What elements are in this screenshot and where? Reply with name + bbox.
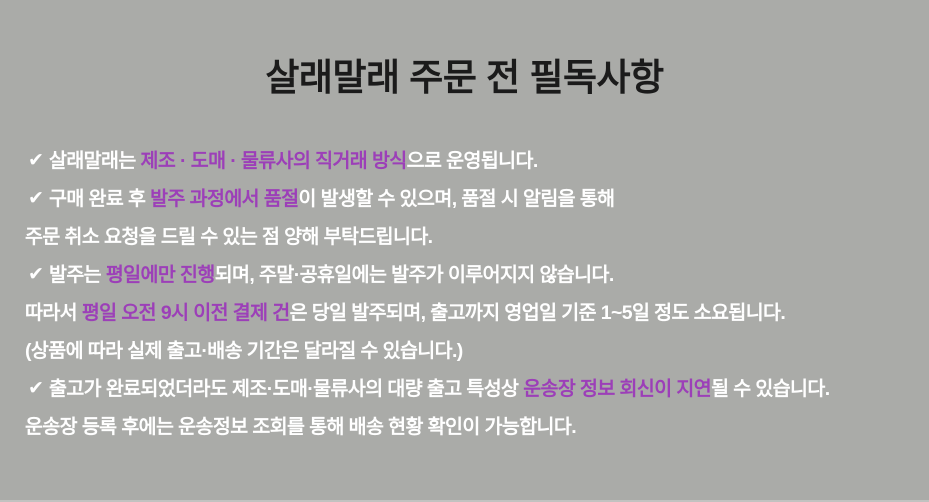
- notice-list: ✔살래말래는 제조 · 도매 · 물류사의 직거래 방식으로 운영됩니다.✔구매…: [0, 142, 929, 446]
- notice-text: 으로 운영됩니다.: [407, 150, 538, 172]
- check-icon: ✔: [28, 180, 49, 218]
- check-icon: ✔: [28, 370, 49, 408]
- notice-text: 될 수 있습니다.: [711, 378, 830, 400]
- notice-text: 이 발생할 수 있으며, 품절 시 알림을 통해: [299, 188, 615, 210]
- order-notice-banner: 살래말래 주문 전 필독사항 ✔살래말래는 제조 · 도매 · 물류사의 직거래…: [0, 0, 929, 502]
- check-icon: ✔: [28, 142, 49, 180]
- highlighted-text: 제조 · 도매 · 물류사의 직거래 방식: [141, 150, 407, 172]
- highlighted-text: 발주 과정에서 품절: [150, 188, 298, 210]
- notice-line: 운송장 등록 후에는 운송정보 조회를 통해 배송 현황 확인이 가능합니다.: [0, 408, 929, 446]
- highlighted-text: 평일에만 진행: [106, 264, 215, 286]
- notice-line: ✔구매 완료 후 발주 과정에서 품절이 발생할 수 있으며, 품절 시 알림을…: [0, 180, 929, 218]
- notice-text: 발주는: [49, 264, 106, 286]
- notice-text: 출고가 완료되었더라도 제조·도매·물류사의 대량 출고 특성상: [49, 378, 523, 400]
- highlighted-text: 평일 오전 9시 이전 결제 건: [82, 302, 290, 324]
- notice-text: (상품에 따라 실제 출고·배송 기간은 달라질 수 있습니다.): [25, 340, 463, 362]
- notice-text: 운송장 등록 후에는 운송정보 조회를 통해 배송 현황 확인이 가능합니다.: [25, 416, 576, 438]
- notice-line: ✔발주는 평일에만 진행되며, 주말·공휴일에는 발주가 이루어지지 않습니다.: [0, 256, 929, 294]
- notice-text: 구매 완료 후: [49, 188, 150, 210]
- highlighted-text: 운송장 정보 회신이 지연: [523, 378, 711, 400]
- notice-text: 은 당일 발주되며, 출고까지 영업일 기준 1~5일 정도 소요됩니다.: [290, 302, 786, 324]
- check-icon: ✔: [28, 256, 49, 294]
- notice-line: 따라서 평일 오전 9시 이전 결제 건은 당일 발주되며, 출고까지 영업일 …: [0, 294, 929, 332]
- notice-line: 주문 취소 요청을 드릴 수 있는 점 양해 부탁드립니다.: [0, 218, 929, 256]
- notice-text: 살래말래는: [49, 150, 141, 172]
- notice-line: (상품에 따라 실제 출고·배송 기간은 달라질 수 있습니다.): [0, 332, 929, 370]
- notice-text: 따라서: [25, 302, 82, 324]
- notice-line: ✔살래말래는 제조 · 도매 · 물류사의 직거래 방식으로 운영됩니다.: [0, 142, 929, 180]
- notice-text: 되며, 주말·공휴일에는 발주가 이루어지지 않습니다.: [215, 264, 614, 286]
- page-title: 살래말래 주문 전 필독사항: [0, 58, 929, 99]
- notice-line: ✔출고가 완료되었더라도 제조·도매·물류사의 대량 출고 특성상 운송장 정보…: [0, 370, 929, 408]
- notice-text: 주문 취소 요청을 드릴 수 있는 점 양해 부탁드립니다.: [25, 226, 433, 248]
